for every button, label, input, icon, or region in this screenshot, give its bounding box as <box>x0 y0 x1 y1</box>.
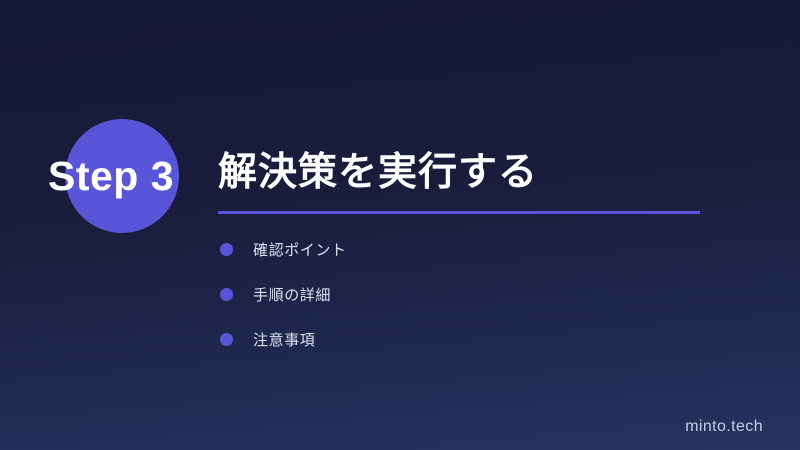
bullet-list: 確認ポイント 手順の詳細 注意事項 <box>220 239 347 374</box>
bullet-dot-icon <box>220 288 233 301</box>
list-item: 確認ポイント <box>220 239 347 259</box>
title-divider <box>218 211 700 214</box>
bullet-label: 確認ポイント <box>253 239 347 260</box>
list-item: 手順の詳細 <box>220 284 347 304</box>
bullet-dot-icon <box>220 243 233 256</box>
slide-title: 解決策を実行する <box>218 141 538 197</box>
bullet-label: 注意事項 <box>253 329 315 350</box>
presentation-slide: Step 3 解決策を実行する 確認ポイント 手順の詳細 注意事項 minto.… <box>0 0 800 450</box>
list-item: 注意事項 <box>220 329 347 349</box>
bullet-label: 手順の詳細 <box>253 284 331 305</box>
bullet-dot-icon <box>220 333 233 346</box>
footer-branding: minto.tech <box>685 418 763 436</box>
step-badge-label: Step 3 <box>48 148 218 204</box>
